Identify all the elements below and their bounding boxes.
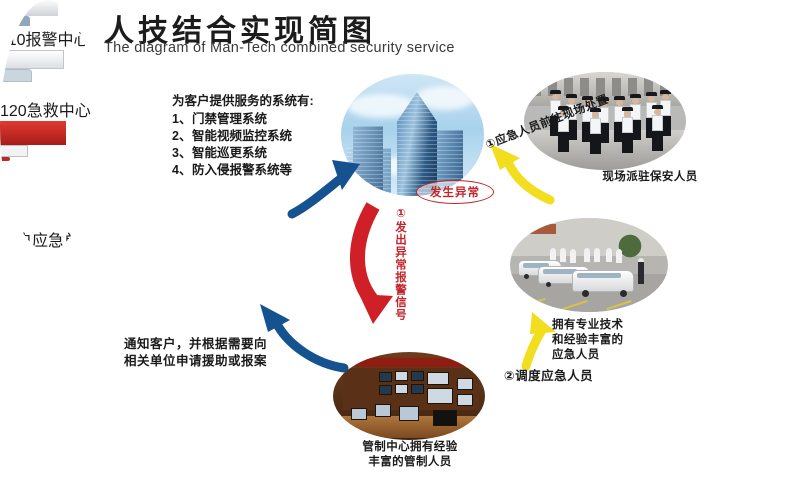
list-item: 1、门禁管理系统: [172, 111, 314, 128]
alarm-badge: 发生异常: [416, 180, 494, 204]
list-item-number: 4、: [172, 162, 192, 179]
list-item-number: 3、: [172, 145, 192, 162]
page-title-en: The diagram of Man-Tech combined securit…: [104, 40, 455, 56]
diagram-canvas: 人技结合实现简图 The diagram of Man-Tech combine…: [0, 0, 802, 477]
label-notify-client: 通知客户，并根据需要向 相关单位申请援助或报案: [124, 336, 267, 369]
caption-patrol-cars: 拥有专业技术 和经验丰富的 应急人员: [552, 318, 662, 363]
list-item-label: 门禁管理系统: [192, 112, 267, 126]
photo-emergency-units: 110报警中心 120急救中心 客户应急单位: [0, 0, 96, 251]
list-item-label: 智能巡更系统: [192, 146, 267, 160]
list-item-label: 防入侵报警系统等: [192, 163, 292, 177]
label-dispatch-responders: ②调度应急人员: [504, 368, 593, 385]
caption-control-room: 管制中心拥有经验 丰富的管制人员: [340, 440, 480, 470]
photo-control-room: [333, 352, 485, 440]
list-item-number: 1、: [172, 111, 192, 128]
arrow-report-to-building: [286, 140, 372, 230]
list-item-label: 智能视频监控系统: [192, 129, 292, 143]
arrow-dispatch-responders: [512, 310, 562, 372]
list-item-number: 2、: [172, 128, 192, 145]
systems-panel-heading: 为客户提供服务的系统有:: [172, 90, 314, 109]
photo-patrol-cars: [510, 218, 668, 312]
caption-security-guards: 现场派驻保安人员: [592, 170, 708, 185]
label-alarm-signal: ①发出异常报警信号: [392, 206, 408, 321]
